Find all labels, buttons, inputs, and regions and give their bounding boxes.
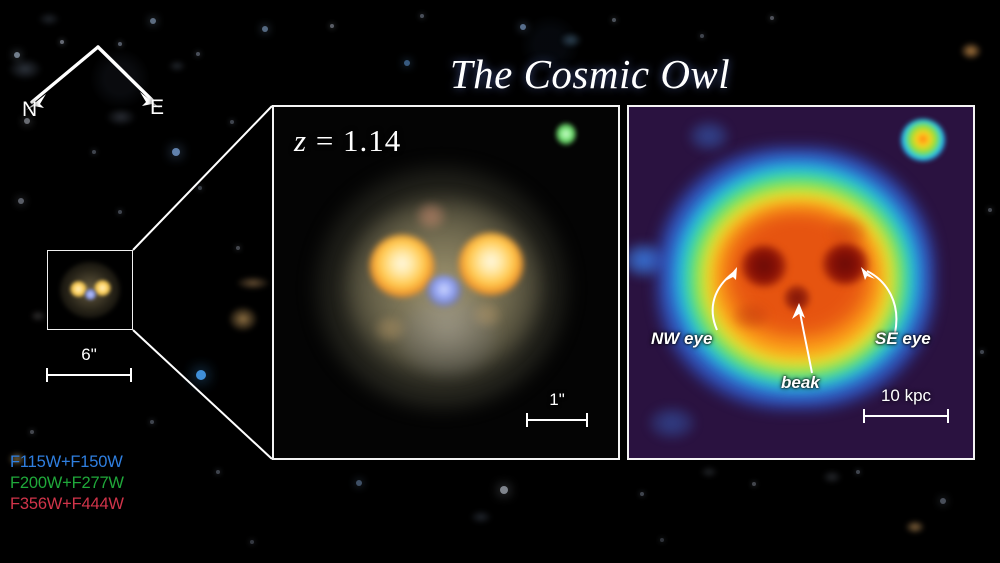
scalebar-middle-line [526, 419, 588, 421]
compass-east-label: E [150, 96, 164, 120]
filter-legend: F115W+F150W F200W+F277W F356W+F444W [10, 452, 124, 515]
scalebar-widefield-tick-left [46, 368, 48, 382]
scalebar-widefield: 6" [46, 362, 132, 388]
scalebar-widefield-tick-right [130, 368, 132, 382]
label-se-eye: SE eye [875, 329, 931, 349]
owl-knot-lowright [472, 303, 502, 327]
arrow-beak-curve [800, 312, 812, 373]
scalebar-middle-label: 1" [526, 390, 588, 410]
owl-eye-nw [370, 235, 434, 297]
owl-eye-se [459, 233, 523, 295]
compass-north-label: N [22, 98, 37, 122]
owl-beak [426, 275, 462, 307]
scalebar-right-tick-left [863, 409, 865, 423]
panel-emission-map[interactable]: NW eye beak SE eye 10 kpc [627, 105, 975, 460]
filter-legend-green: F200W+F277W [10, 473, 124, 494]
scalebar-widefield-line [46, 374, 132, 376]
scalebar-right-label: 10 kpc [863, 386, 949, 406]
arrow-nw-eye-curve [713, 273, 733, 330]
owl-knot-lowleft [374, 317, 406, 341]
scalebar-middle-tick-left [526, 413, 528, 427]
scalebar-middle-tick-right [586, 413, 588, 427]
owl-knot-upper [416, 203, 446, 229]
redshift-label: z = 1.14 [294, 123, 401, 159]
neighbour-green-source [556, 123, 576, 145]
arrow-beak-head [792, 303, 805, 319]
figure-canvas: N E The Cosmic Owl 6" F115W+F150W F200W+… [0, 0, 1000, 563]
redshift-symbol: z [294, 123, 307, 158]
arrow-se-eye-curve [867, 271, 896, 333]
scalebar-right-tick-right [947, 409, 949, 423]
filter-legend-blue: F115W+F150W [10, 452, 124, 473]
zoom-selection-box[interactable] [47, 250, 133, 330]
label-beak: beak [781, 373, 820, 393]
filter-legend-red: F356W+F444W [10, 494, 124, 515]
scalebar-right-line [863, 415, 949, 417]
label-nw-eye: NW eye [651, 329, 712, 349]
redshift-value: = 1.14 [316, 123, 401, 158]
figure-title: The Cosmic Owl [0, 50, 1000, 98]
figure-title-text: The Cosmic Owl [450, 51, 730, 97]
scalebar-right: 10 kpc [863, 403, 949, 429]
scalebar-widefield-label: 6" [46, 345, 132, 365]
panel-color-composite[interactable]: z = 1.14 1" [272, 105, 620, 460]
scalebar-middle: 1" [526, 407, 588, 433]
